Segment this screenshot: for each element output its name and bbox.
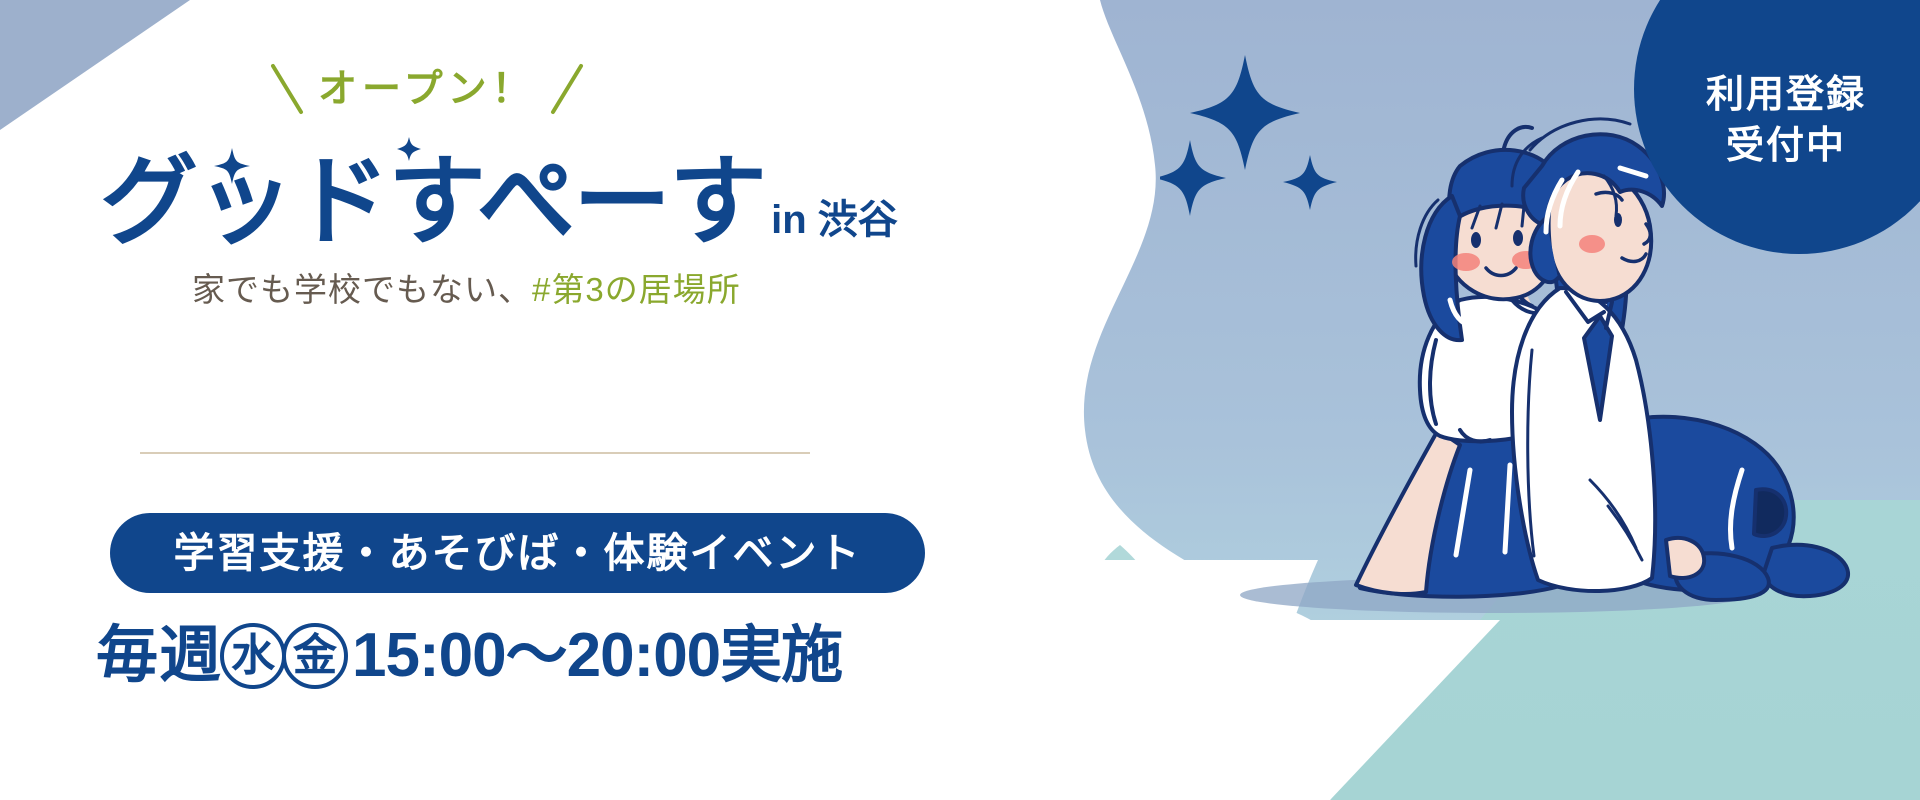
services-pill[interactable]: 学習支援・あそびば・体験イベント [110, 513, 925, 593]
schedule-time-range: 15:00〜20:00実施 [352, 625, 842, 687]
services-pill-label: 学習支援・あそびば・体験イベント [174, 533, 862, 574]
slash-right-icon [550, 62, 584, 116]
subtitle: 家でも学校でもない、#第3の居場所 [192, 270, 741, 310]
subtitle-hashtag: #第3の居場所 [532, 271, 741, 308]
logo-main-text: グッドすぺーす [100, 152, 765, 250]
promo-banner: オープン！ グッドすぺーす in 渋谷 家でも学校でもない、#第3の居場所 学習… [0, 0, 1920, 800]
badge-line-1: 利用登録 [1706, 70, 1866, 121]
section-divider [140, 452, 810, 454]
logo-lockup: グッドすぺーす in 渋谷 [100, 152, 898, 250]
logo-location-suffix: in 渋谷 [771, 200, 898, 250]
subtitle-plain: 家でも学校でもない、 [192, 271, 532, 308]
schedule-prefix: 毎週 [96, 625, 222, 687]
text-content: オープン！ グッドすぺーす in 渋谷 家でも学校でもない、#第3の居場所 学習… [0, 0, 1000, 800]
schedule-day-friday: 金 [282, 623, 348, 689]
schedule-line: 毎週 水 金 15:00〜20:00実施 [96, 623, 842, 689]
open-label: オープン！ [318, 70, 536, 109]
slash-left-icon [270, 62, 304, 116]
schedule-day-wednesday: 水 [220, 623, 286, 689]
open-announcement: オープン！ [270, 62, 584, 116]
badge-line-2: 受付中 [1726, 121, 1846, 172]
